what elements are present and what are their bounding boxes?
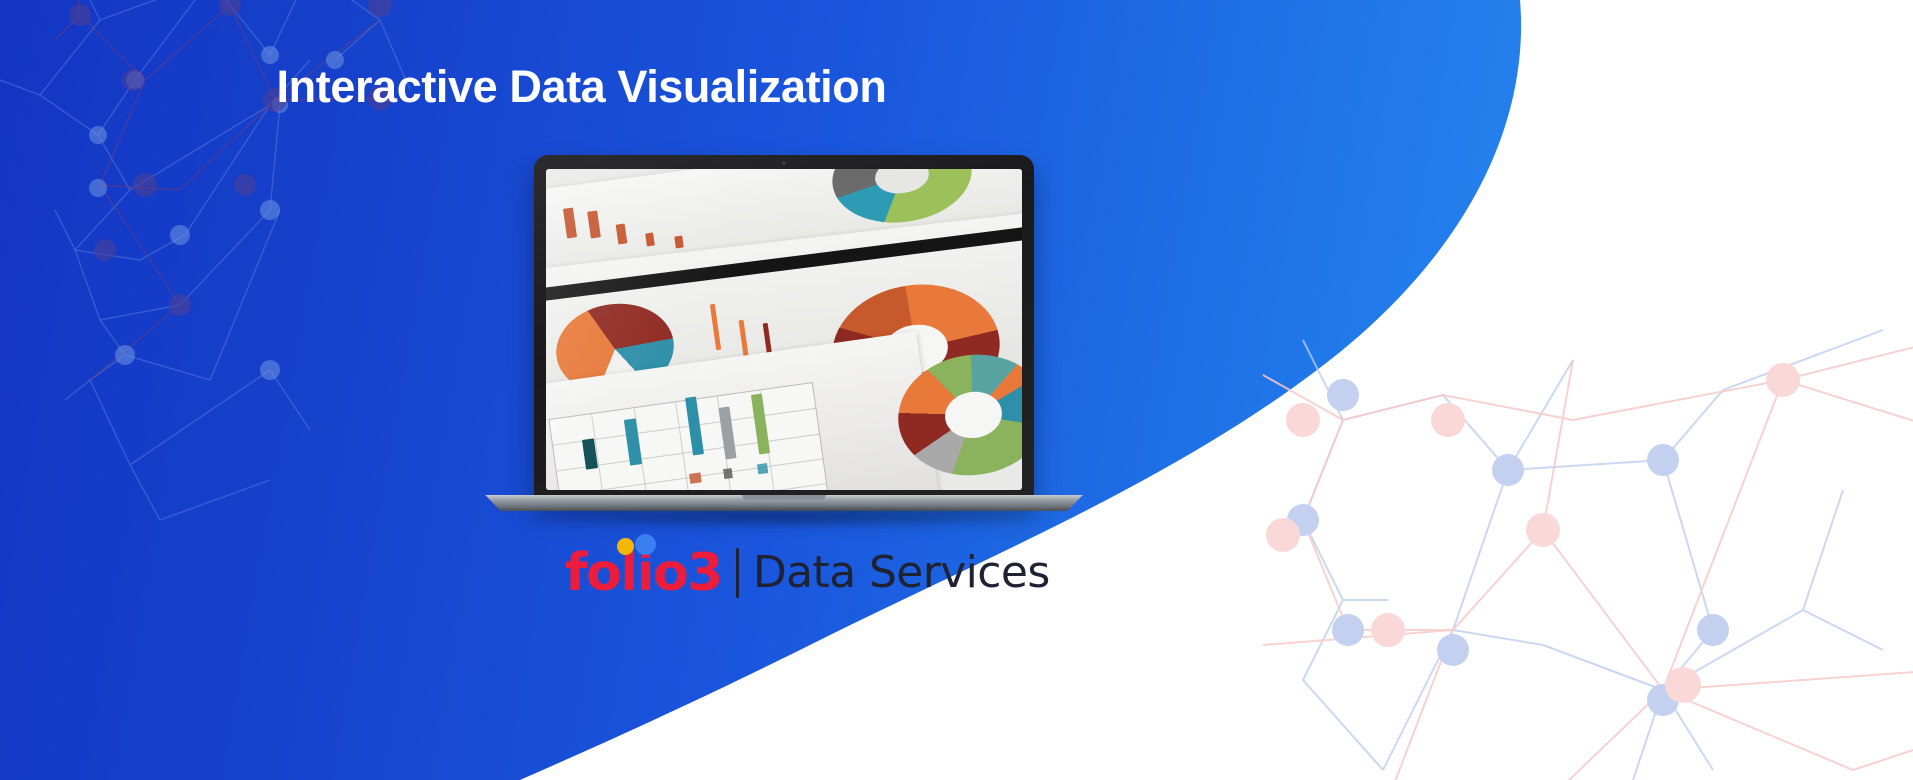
- marketing-banner: Interactive Data Visualization: [0, 0, 1913, 780]
- bar-segment: [645, 233, 655, 247]
- logo-divider: [736, 548, 739, 598]
- right-network-pattern-icon: [1243, 300, 1913, 780]
- charts-photo: [546, 169, 1022, 490]
- logo-dot-yellow-icon: [617, 538, 634, 555]
- laptop-screen: [546, 169, 1022, 490]
- page-title: Interactive Data Visualization: [0, 60, 1913, 114]
- folio3-wordmark: folio3: [565, 547, 722, 599]
- product-name: Data Services: [753, 551, 1050, 595]
- logo-dot-blue-icon: [635, 534, 656, 555]
- laptop-base-notch: [742, 495, 826, 500]
- brand-logo[interactable]: folio3 Data Services: [565, 547, 1050, 599]
- laptop-shadow: [516, 507, 1056, 529]
- bar-segment: [674, 236, 684, 249]
- laptop-lid: [534, 155, 1034, 500]
- webcam-icon: [782, 161, 786, 165]
- laptop-mockup: [476, 155, 1092, 515]
